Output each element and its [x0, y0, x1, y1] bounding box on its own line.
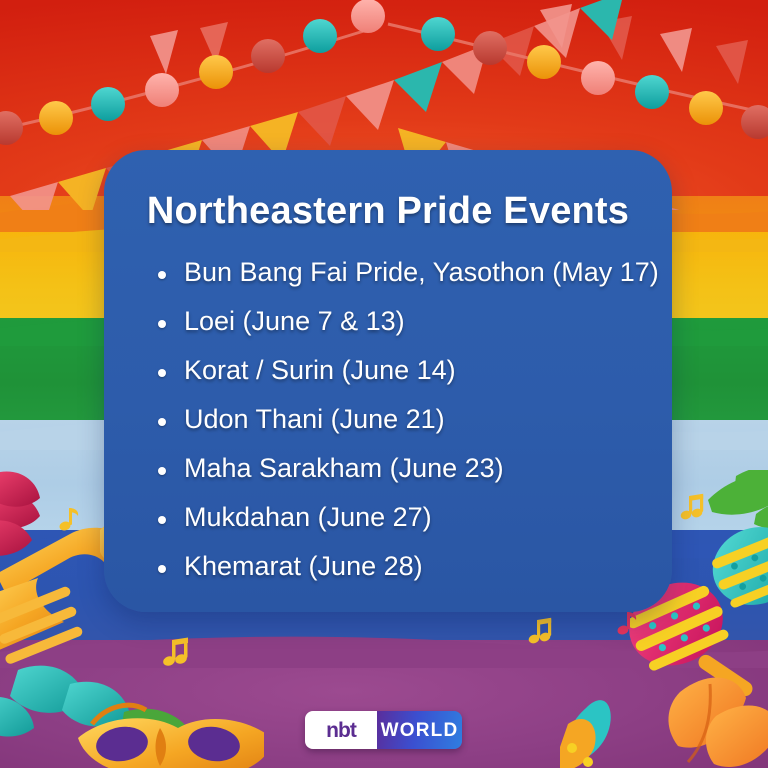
- bullet-icon: [158, 320, 166, 328]
- list-item: Udon Thani (June 21): [158, 406, 638, 433]
- nbt-world-logo: nbt WORLD: [305, 711, 462, 749]
- world-logo-panel: WORLD: [377, 711, 462, 749]
- list-item: Loei (June 7 & 13): [158, 308, 638, 335]
- page-title: Northeastern Pride Events: [138, 190, 638, 233]
- list-item: Khemarat (June 28): [158, 553, 638, 580]
- event-label: Loei (June 7 & 13): [184, 306, 405, 336]
- event-label: Udon Thani (June 21): [184, 404, 445, 434]
- list-item: Korat / Surin (June 14): [158, 357, 638, 384]
- event-label: Mukdahan (June 27): [184, 502, 432, 532]
- event-label: Bun Bang Fai Pride, Yasothon (May 17): [184, 257, 659, 287]
- events-card: Northeastern Pride Events Bun Bang Fai P…: [104, 150, 672, 612]
- events-list: Bun Bang Fai Pride, Yasothon (May 17) Lo…: [138, 259, 638, 580]
- event-label: Maha Sarakham (June 23): [184, 453, 504, 483]
- world-logo-text: WORLD: [381, 721, 459, 740]
- bullet-icon: [158, 369, 166, 377]
- bullet-icon: [158, 516, 166, 524]
- poster-canvas: Northeastern Pride Events Bun Bang Fai P…: [0, 0, 768, 768]
- list-item: Maha Sarakham (June 23): [158, 455, 638, 482]
- list-item: Bun Bang Fai Pride, Yasothon (May 17): [158, 259, 638, 286]
- bullet-icon: [158, 565, 166, 573]
- wave-seam-blue-purple: [0, 622, 768, 668]
- event-label: Korat / Surin (June 14): [184, 355, 456, 385]
- bullet-icon: [158, 271, 166, 279]
- list-item: Mukdahan (June 27): [158, 504, 638, 531]
- event-label: Khemarat (June 28): [184, 551, 423, 581]
- nbt-logo-text: nbt: [326, 720, 356, 741]
- nbt-logo-mark: nbt: [305, 711, 377, 749]
- bullet-icon: [158, 418, 166, 426]
- bullet-icon: [158, 467, 166, 475]
